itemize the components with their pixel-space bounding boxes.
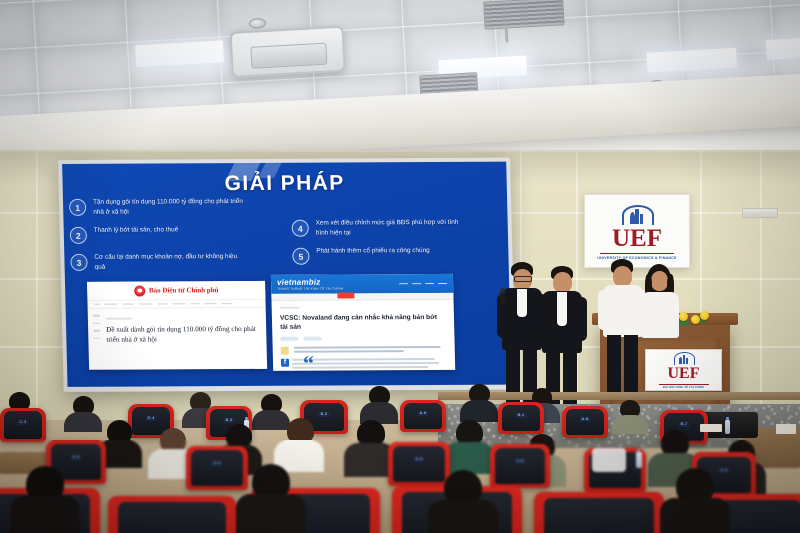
water-bottle	[725, 420, 730, 434]
presenter-arm	[576, 297, 587, 341]
ceiling-air-vent	[483, 0, 564, 30]
bullet-number: 5	[292, 248, 309, 265]
slide-bullet: 1 Tận dụng gói tín dụng 110.000 tỷ đồng …	[69, 197, 282, 217]
slide-bullet: 4 Xem xét điều chỉnh mức giá BĐS phù hợp…	[292, 218, 505, 238]
audience-member	[460, 384, 498, 420]
auditorium-seat-foreground[interactable]	[108, 496, 236, 533]
news-article-body: VCSC: Novaland đang cân nhắc khả năng bá…	[272, 300, 456, 368]
news-thumbnail	[281, 347, 289, 355]
vietnambiz-tagline: TRANG THÔNG TIN KINH TẾ TÀI CHÍNH	[277, 286, 343, 290]
news-site-name: vietnambiz TRANG THÔNG TIN KINH TẾ TÀI C…	[277, 277, 343, 290]
presenter-arm	[598, 290, 609, 330]
news-article-body: Đề xuất dành gói tín dụng 110.000 tỷ đồn…	[88, 308, 267, 345]
news-paragraph-lines	[292, 358, 447, 368]
slide-bullet-columns: 1 Tận dụng gói tín dụng 110.000 tỷ đồng …	[63, 196, 509, 282]
bullet-text: Cơ cấu lại danh mục khoản nợ, đầu tư khô…	[94, 252, 244, 272]
uef-emblem-icon	[620, 203, 654, 225]
slide-column-left: 1 Tận dụng gói tín dụng 110.000 tỷ đồng …	[63, 197, 287, 282]
audience-member-foreground	[428, 470, 498, 533]
slide-title: GIẢI PHÁP	[62, 171, 507, 197]
seat-label: D-4	[146, 416, 157, 421]
ceiling-light-panel	[766, 35, 800, 60]
presenter-legs	[607, 335, 621, 397]
news-kicker-line	[280, 307, 300, 309]
auditorium-seat[interactable]: A-8	[562, 406, 608, 438]
paper-sheet	[776, 424, 796, 434]
bullet-number: 2	[70, 227, 87, 244]
news-section-badge	[337, 292, 354, 298]
seat-label: D-5	[414, 457, 425, 462]
slide-bullet: 5 Phát hành thêm cổ phiếu ra công chúng	[292, 246, 504, 265]
news-section-bar	[271, 293, 453, 301]
presenter-shirt	[557, 292, 567, 326]
bullet-text: Tận dụng gói tín dụng 110.000 tỷ đồng ch…	[93, 197, 243, 217]
auditorium-seat[interactable]: B-1	[498, 402, 544, 434]
audience-member-foreground	[660, 468, 730, 533]
tote-bag	[592, 448, 626, 472]
seat-label: D-4	[71, 455, 82, 460]
presenter-head	[613, 266, 632, 287]
news-site-nav	[399, 283, 447, 285]
uef-acronym: UEF	[612, 226, 662, 251]
slide-bullet: 2 Thanh lý bớt tài sản, cho thuê	[70, 225, 282, 244]
seat-label: A-8	[580, 417, 591, 422]
audience-member	[444, 420, 494, 472]
presenter-shirt	[517, 289, 527, 317]
news-screenshot-government: Báo Điện tử Chính phủ Đề xuất dành gói t…	[87, 281, 267, 370]
quote-glyph: “	[303, 351, 315, 371]
news-site-header: vietnambiz TRANG THÔNG TIN KINH TẾ TÀI C…	[271, 274, 453, 294]
seat-label: C-5	[515, 459, 526, 464]
presenter-head	[553, 272, 572, 293]
news-headline: Đề xuất dành gói tín dụng 110.000 tỷ đồn…	[106, 324, 257, 346]
slide-content: GIẢI PHÁP 1 Tận dụng gói tín dụng 110.00…	[62, 162, 512, 387]
uef-wall-sign: UEF UNIVERSITY OF ECONOMICS & FINANCE	[584, 194, 690, 268]
slide-column-right: 4 Xem xét điều chỉnh mức giá BĐS phù hợp…	[285, 196, 509, 281]
projection-screen: GIẢI PHÁP 1 Tận dụng gói tín dụng 110.00…	[58, 158, 516, 392]
seat-label: B-3	[224, 418, 235, 423]
news-summary-lines	[294, 346, 447, 355]
water-bottle	[636, 452, 642, 468]
slide-bullet: 3 Cơ cấu lại danh mục khoản nợ, đầu tư k…	[70, 252, 283, 272]
paper-sheet	[700, 424, 722, 432]
news-kicker-line	[106, 318, 132, 320]
bullet-text: Thanh lý bớt tài sản, cho thuê	[94, 226, 179, 236]
presenter-head	[651, 271, 668, 291]
wall-mounted-speaker	[742, 208, 778, 218]
facebook-icon: f	[281, 359, 289, 367]
audience-member-foreground	[10, 466, 80, 533]
seat-label: A-6	[418, 411, 429, 416]
presenter-arm	[537, 297, 548, 341]
handheld-microphone	[500, 292, 505, 305]
auditorium-seat[interactable]: C-3	[0, 408, 46, 442]
bullet-number: 4	[292, 220, 309, 237]
audience-member	[360, 386, 398, 422]
seat-label: C-4	[212, 461, 223, 466]
news-share-rail	[93, 315, 101, 345]
seat-label: B-2	[319, 412, 330, 417]
government-portal-logo-icon	[134, 285, 145, 296]
eyeglasses-icon	[514, 276, 532, 282]
presenter-fourth	[636, 264, 684, 384]
audience-member	[612, 400, 648, 432]
auditorium-seat[interactable]: A-6	[400, 400, 446, 432]
audience-member-foreground	[236, 464, 306, 533]
seat-label: C-3	[18, 420, 29, 425]
bullet-number: 3	[70, 254, 87, 271]
auditorium-seat[interactable]: C-5	[490, 444, 550, 488]
news-screenshot-vietnambiz: vietnambiz TRANG THÔNG TIN KINH TẾ TÀI C…	[271, 274, 455, 371]
news-headline: VCSC: Novaland đang cân nhắc khả năng bá…	[280, 313, 446, 332]
presenter-torso	[641, 292, 679, 338]
bullet-number: 1	[69, 199, 86, 216]
auditorium-seat-foreground[interactable]	[534, 492, 664, 533]
uef-podium-subtitle: ĐẠI HỌC KINH TẾ TÀI CHÍNH	[663, 386, 704, 389]
seat-label: B-1	[516, 413, 527, 418]
audience-member	[274, 418, 324, 470]
news-tag-chips	[280, 336, 446, 341]
lecture-hall-photo: UEF UNIVERSITY OF ECONOMICS & FINANCE GI…	[0, 0, 800, 533]
ceiling-ac-unit	[229, 26, 345, 78]
vietnambiz-wordmark: vietnambiz	[277, 278, 321, 287]
news-site-name: Báo Điện tử Chính phủ	[149, 286, 219, 294]
news-site-header: Báo Điện tử Chính phủ	[87, 281, 265, 301]
bullet-text: Phát hành thêm cổ phiếu ra công chúng	[316, 246, 430, 256]
seat-label: B-7	[679, 422, 690, 427]
bullet-text: Xem xét điều chỉnh mức giá BĐS phù hợp v…	[316, 218, 466, 238]
